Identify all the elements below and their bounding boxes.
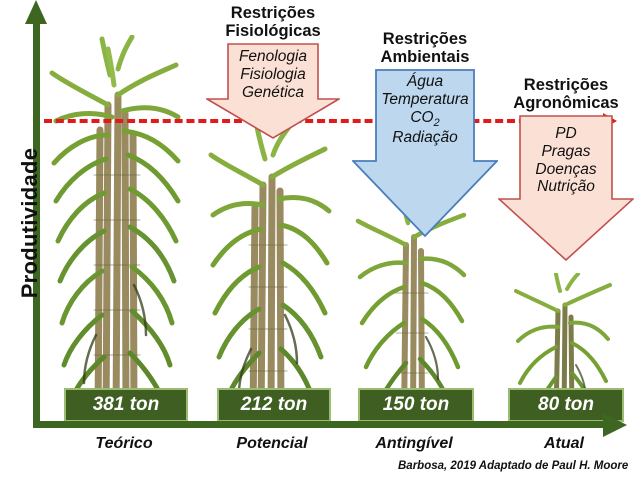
value-box-teorico[interactable]: 381 ton [64,388,188,422]
callout-fisiologicas[interactable]: Restrições Fisiológicas Fenologia Fisiol… [206,4,340,139]
callout-ambientais[interactable]: Restrições Ambientais Água Temperatura C… [352,30,498,237]
callout-ambientais-items: Água Temperatura CO2 Radiação [352,69,498,147]
x-tick-label-atingivel: Antingível [358,435,470,453]
x-tick-label-teorico: Teórico [64,435,184,453]
sugarcane-plant-2 [205,125,335,425]
x-axis-line [33,421,608,428]
x-axis-arrowhead [603,413,627,437]
callout-agronomicas-title: Restrições Agronômicas [498,76,634,113]
value-box-potencial[interactable]: 212 ton [217,388,331,422]
chart-canvas: Produtividade [0,0,640,480]
x-tick-label-potencial: Potencial [217,435,327,453]
callout-agronomicas-items: PD Pragas Doenças Nutrição [498,115,634,196]
callout-fisiologicas-items: Fenologia Fisiologia Genética [206,43,340,101]
callout-ambientais-title: Restrições Ambientais [352,30,498,67]
callout-agronomicas[interactable]: Restrições Agronômicas PD Pragas Doenças… [498,76,634,261]
value-box-atingivel[interactable]: 150 ton [358,388,474,422]
x-tick-label-atual: Atual [508,435,620,453]
citation-text: Barbosa, 2019 Adaptado de Paul H. Moore [398,460,628,472]
sugarcane-plant-1 [46,35,186,425]
y-axis-label: Produtividade [17,138,43,308]
callout-fisiologicas-title: Restrições Fisiológicas [206,4,340,41]
callout-item-co2: CO2 [352,109,498,130]
